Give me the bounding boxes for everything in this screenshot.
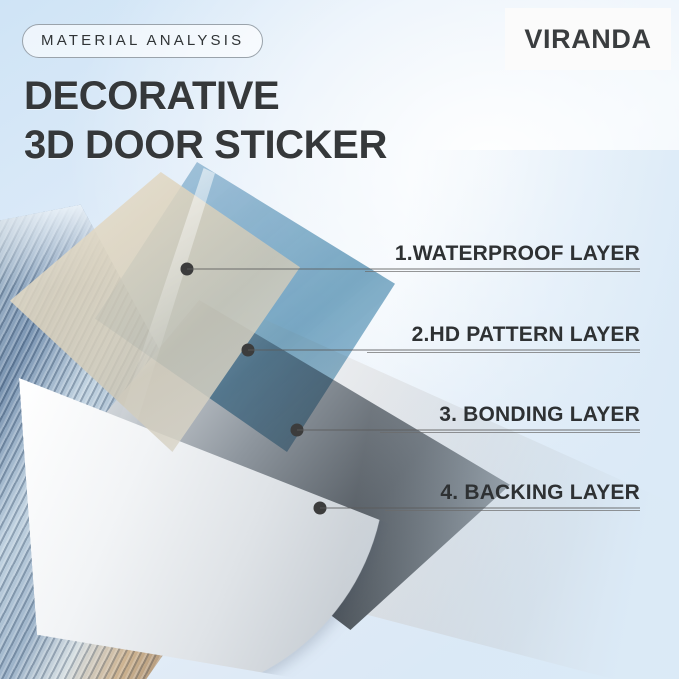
callout-leader-2 <box>248 350 640 351</box>
layer-label-1: 1.WATERPROOF LAYER <box>340 242 640 266</box>
callout-leader-4 <box>320 508 640 509</box>
callout-group: 1.WATERPROOF LAYER 2.HD PATTERN LAYER 3.… <box>0 0 679 679</box>
layer-label-2: 2.HD PATTERN LAYER <box>340 323 640 347</box>
layer-label-4: 4. BACKING LAYER <box>340 481 640 505</box>
callout-leader-3 <box>297 430 640 431</box>
layer-rule-2 <box>367 352 640 353</box>
layer-rule-1 <box>365 271 640 272</box>
layer-rule-4 <box>385 510 640 511</box>
infographic-canvas: MATERIAL ANALYSIS DECORATIVE 3D DOOR STI… <box>0 0 679 679</box>
layer-rule-3 <box>380 432 640 433</box>
layer-label-3: 3. BONDING LAYER <box>340 403 640 427</box>
callout-leader-1 <box>187 269 640 270</box>
